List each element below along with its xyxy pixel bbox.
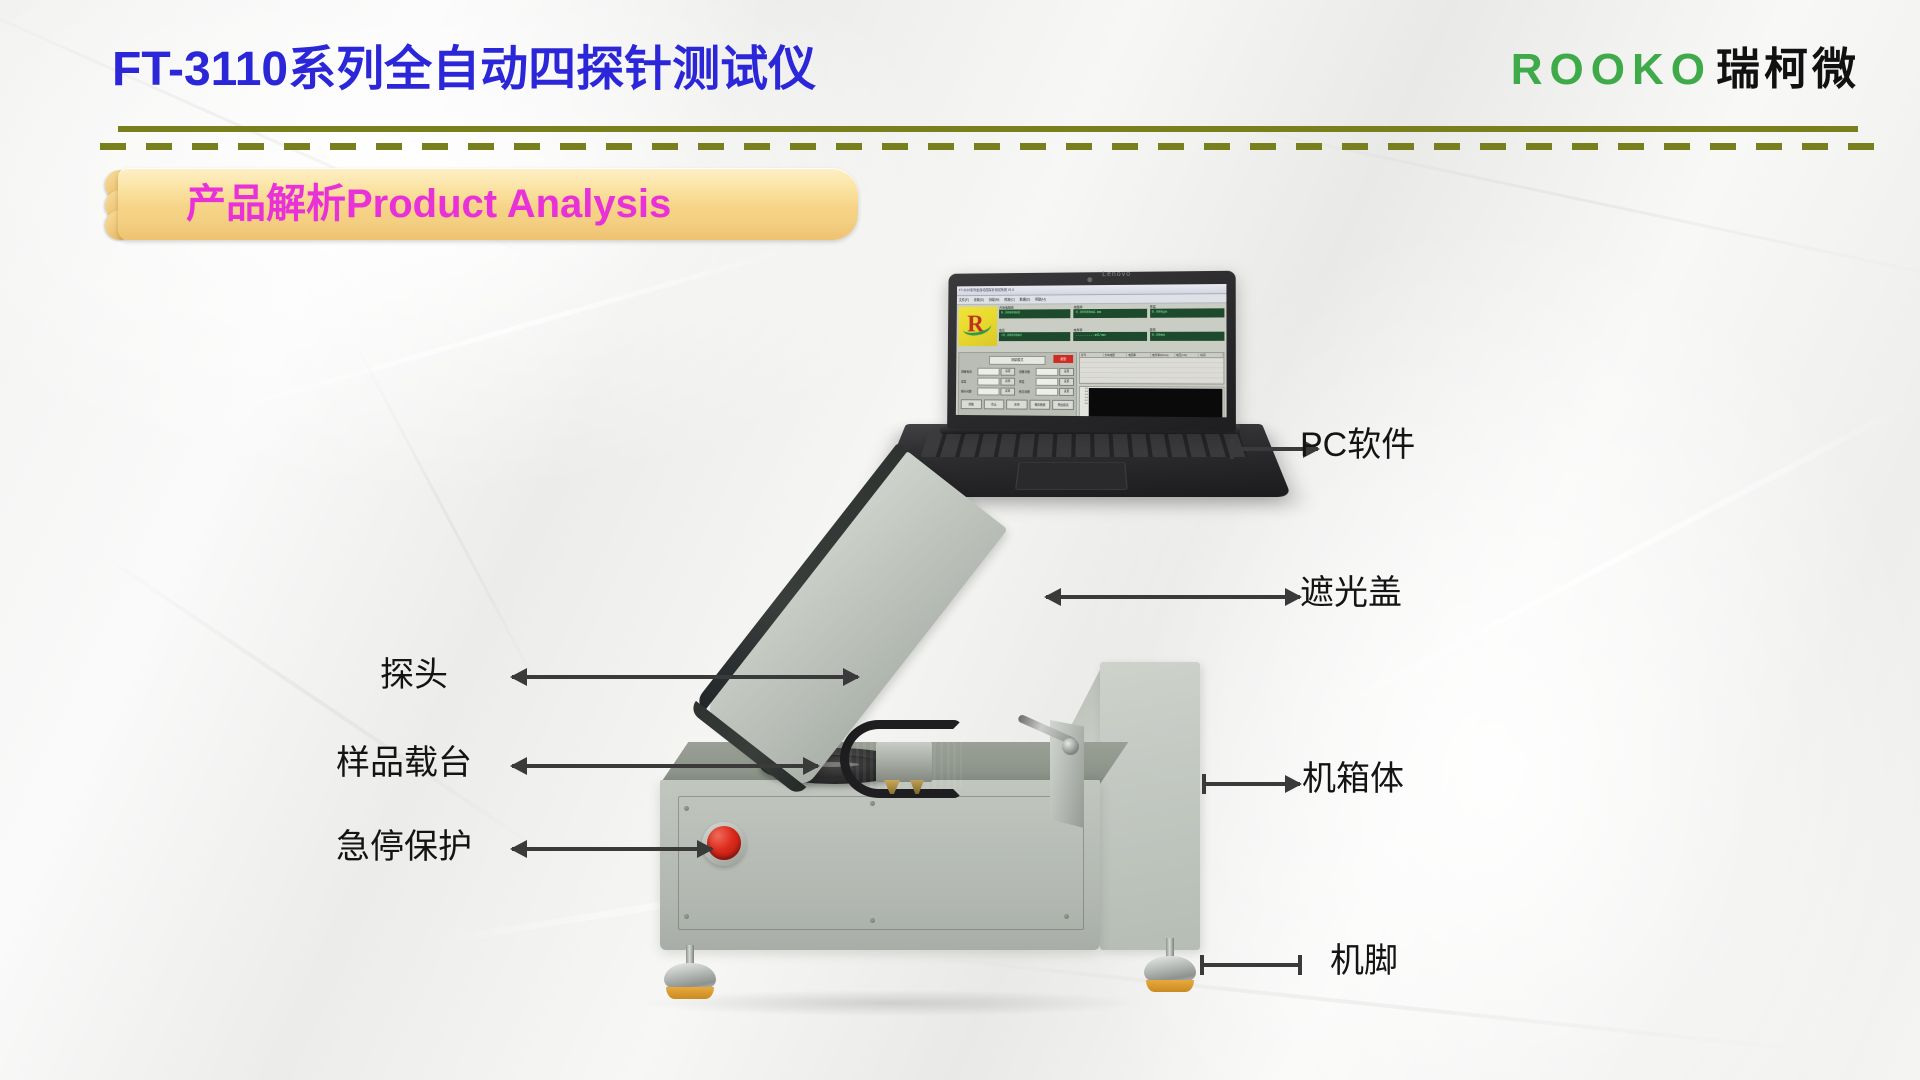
slide-canvas: FT-3110系列全自动四探针测试仪 ROOKO瑞柯微 产品解析Product …: [0, 0, 1920, 1080]
callout-arrow-light-cover: [1046, 595, 1300, 599]
parameter-input[interactable]: [977, 368, 999, 376]
alarm-indicator: 报警: [1053, 355, 1073, 363]
software-logo: R: [958, 307, 997, 346]
menu-item[interactable]: 设置(S): [974, 297, 984, 303]
menu-item[interactable]: 帮助(H): [1035, 296, 1046, 302]
stop-button[interactable]: 停止: [983, 399, 1004, 409]
parameter-label: 温度: [961, 380, 976, 384]
callout-label-chassis-body: 机箱体: [1302, 762, 1404, 796]
chassis-right-panel: [1100, 662, 1200, 950]
software-control-area: 报警 测量模式 测量电流 设置 测量次数 设置: [956, 352, 1227, 417]
screw-icon: [870, 801, 875, 806]
menu-item[interactable]: 测量(M): [989, 297, 1000, 303]
callout-arrow-chassis-body: [1202, 782, 1300, 786]
save-data-button[interactable]: 保存数据: [1029, 400, 1050, 410]
webcam-icon: [1087, 277, 1092, 282]
column-header: 时间: [1199, 353, 1223, 357]
laptop-brand-label: Lenovo: [1102, 271, 1131, 278]
zero-button[interactable]: 清零: [1006, 400, 1027, 410]
parameter-input[interactable]: [1036, 388, 1059, 396]
machine-foot: [1140, 938, 1200, 994]
callout-label-machine-feet: 机脚: [1330, 944, 1398, 978]
field-value: 0.00000mΩ.mm: [1074, 309, 1147, 318]
parameter-input[interactable]: [1036, 368, 1059, 376]
product-photo: FT-3110系列全自动四探针测试系统 V1.0 文件(F) 设置(S) 测量(…: [0, 0, 1920, 1080]
callout-label-probe-head: 探头: [380, 658, 448, 692]
callout-arrow-probe-head: [512, 675, 858, 679]
parameter-row: 修正系数 设置: [1019, 388, 1074, 396]
parameter-label: 测量电流: [961, 370, 976, 374]
parameter-label: 测量次数: [1019, 370, 1035, 374]
export-report-button[interactable]: 导出报表: [1052, 400, 1073, 410]
table-row: [1080, 378, 1224, 384]
trend-chart: 1.00.80.60.40.20.0: [1079, 386, 1225, 417]
field-value: +0.00000mV: [999, 332, 1071, 341]
foot-pad: [1146, 980, 1194, 992]
screw-icon: [870, 918, 875, 923]
callout-label-light-cover: 遮光盖: [1300, 576, 1402, 610]
parameter-set-button[interactable]: 设置: [1000, 388, 1015, 396]
access-panel: [678, 796, 1084, 930]
measure-button[interactable]: 测量: [961, 399, 982, 409]
column-header: 方块电阻: [1104, 353, 1128, 357]
foot-pad: [666, 987, 714, 999]
screw-icon: [1064, 914, 1069, 919]
field-group: 方块电阻值 0.00000mΩ: [999, 306, 1071, 327]
field-group: 电阻率 0.00000mΩ.mm: [1074, 306, 1147, 327]
field-group: 电压 +0.00000mV: [999, 329, 1071, 350]
field-value: 0.000μm: [1150, 309, 1225, 318]
menu-item[interactable]: 校准(C): [1004, 297, 1015, 303]
parameter-set-button[interactable]: 设置: [1059, 368, 1074, 376]
column-header: 序号: [1080, 353, 1104, 357]
parameter-rows: 测量电流 设置 测量次数 设置 温度: [961, 368, 1074, 396]
column-header: 电阻率: [1127, 353, 1151, 357]
parameter-panel: 报警 测量模式 测量电流 设置 测量次数 设置: [958, 352, 1077, 417]
callout-arrow-estop: [512, 847, 712, 851]
parameter-label: 修正系数: [1019, 390, 1035, 394]
callout-label-pc-software: PC软件: [1300, 428, 1415, 462]
screw-icon: [684, 806, 689, 811]
parameter-set-button[interactable]: 设置: [1059, 388, 1074, 396]
results-table[interactable]: 序号 方块电阻 电阻率 电导率(S/mm) 电压(mV) 时间: [1079, 352, 1225, 385]
callout-label-estop: 急停保护: [336, 830, 472, 864]
parameter-input[interactable]: [977, 378, 999, 386]
field-value: 0.00mm: [1150, 332, 1225, 341]
logo-swoosh-icon: [961, 316, 992, 338]
parameter-set-button[interactable]: 设置: [1001, 368, 1016, 376]
parameter-set-button[interactable]: 设置: [1000, 378, 1015, 386]
action-buttons: 测量 停止 清零 保存数据 导出报表: [961, 399, 1074, 410]
laptop-trackpad: [1015, 462, 1128, 490]
laptop-lid: FT-3110系列全自动四探针测试系统 V1.0 文件(F) 设置(S) 测量(…: [947, 271, 1236, 432]
parameter-label: 探针间距: [961, 389, 976, 393]
parameter-label: 厚度: [1019, 380, 1035, 384]
parameter-row: 测量次数 设置: [1019, 368, 1074, 376]
software-results-area: 序号 方块电阻 电阻率 电导率(S/mm) 电压(mV) 时间: [1079, 352, 1225, 417]
probe-head-assembly: [876, 742, 932, 782]
parameter-set-button[interactable]: 设置: [1059, 378, 1074, 386]
measurement-fields: 方块电阻值 0.00000mΩ 电阻率 0.00000mΩ.mm 厚度 0.00…: [999, 305, 1225, 350]
column-header: 电压(mV): [1175, 353, 1199, 357]
column-header: 电导率(S/mm): [1151, 353, 1175, 357]
chart-y-axis: 1.00.80.60.40.20.0: [1080, 387, 1088, 417]
menu-item[interactable]: 文件(F): [959, 297, 969, 303]
callout-arrow-machine-feet: [1200, 963, 1302, 967]
parameter-input[interactable]: [977, 387, 999, 395]
parameter-row: 探针间距 设置: [961, 387, 1015, 395]
field-value: 0.00000mΩ: [999, 309, 1071, 318]
menu-item[interactable]: 数据(D): [1020, 297, 1031, 303]
cover-dark-edge: [694, 443, 907, 711]
callout-label-sample-stage: 样品载台: [336, 746, 472, 780]
parameter-input[interactable]: [1036, 378, 1059, 386]
parameter-row: 厚度 设置: [1019, 378, 1074, 386]
chart-plot-area: [1089, 388, 1223, 417]
parameter-row: 温度 设置: [961, 378, 1015, 386]
field-group: 电导率 ---------mS/mm: [1073, 329, 1146, 350]
parameter-row: 测量电流 设置: [961, 368, 1015, 376]
field-group: 厚度 0.000μm: [1150, 305, 1225, 327]
laptop-screen: FT-3110系列全自动四探针测试系统 V1.0 文件(F) 设置(S) 测量(…: [956, 284, 1227, 417]
software-readout-area: R 方块电阻值 0.00000mΩ 电阻率 0.00000mΩ.mm: [956, 303, 1226, 352]
field-group: 距离 0.00mm: [1150, 329, 1225, 350]
mode-selector[interactable]: 测量模式: [989, 356, 1046, 365]
field-value: ---------mS/mm: [1074, 332, 1147, 341]
cover-hinge-knob[interactable]: [1062, 738, 1079, 755]
screw-icon: [684, 914, 689, 919]
machine-foot: [660, 945, 720, 1001]
callout-arrow-sample-stage: [512, 764, 818, 768]
